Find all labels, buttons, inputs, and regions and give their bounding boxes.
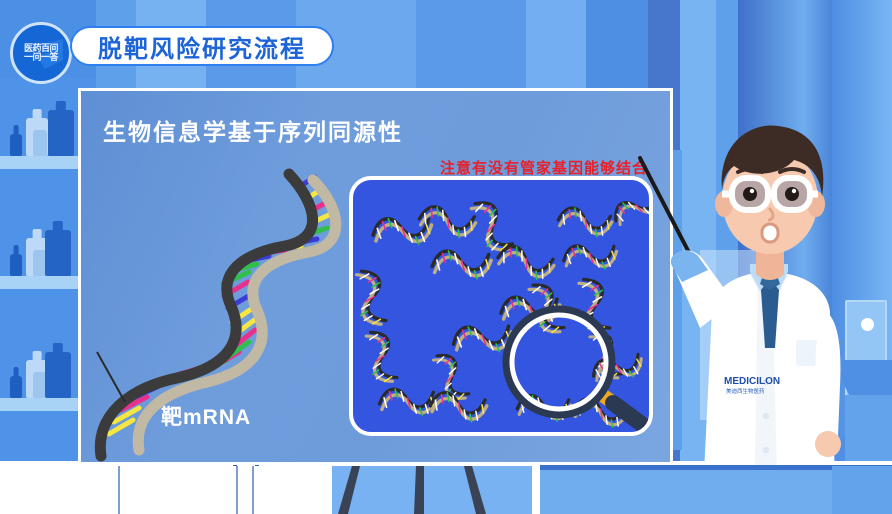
stool-legs [332, 466, 532, 514]
medicilon-circle-logo[interactable]: 医药百问 一问一答 [10, 22, 72, 84]
eye-right [785, 187, 799, 201]
logo-inner: 医药百问 一问一答 [13, 25, 69, 81]
hand-right [815, 431, 841, 457]
mouth [762, 224, 778, 242]
scientist-character: MEDICILON 美迪西生物医药 [638, 96, 892, 514]
counter-right-block [832, 466, 892, 514]
bottle-large [48, 110, 74, 156]
coat-button [763, 413, 769, 419]
rna-board [349, 176, 653, 436]
mrna-label: 靶mRNA [161, 401, 251, 431]
counter-seam [252, 466, 254, 514]
counter-seam [118, 466, 120, 514]
coat-button [763, 447, 769, 453]
bottle-small [10, 254, 22, 276]
panel-heading: 生物信息学基于序列同源性 [103, 113, 403, 147]
bottle-small [33, 130, 47, 156]
bottle-small [10, 134, 22, 156]
panel-note: 注意有没有管家基因能够结合 [440, 157, 648, 178]
page-title-pill: 脱靶风险研究流程 [70, 26, 334, 66]
counter-seam [236, 466, 238, 514]
bottle-small [10, 376, 22, 398]
scene-root: 医药百问 一问一答 脱靶风险研究流程 生物信息学基于序列同源性 注意有没有管家基… [0, 0, 892, 514]
bottle-large [45, 230, 71, 276]
eye-highlight [750, 189, 754, 193]
chest-badge-line1: MEDICILON [724, 376, 780, 387]
logo-line-2: 一问一答 [24, 53, 58, 62]
bottle-large [45, 352, 71, 398]
content-panel: 生物信息学基于序列同源性 注意有没有管家基因能够结合 [78, 88, 673, 465]
magnifier-icon[interactable] [497, 302, 653, 436]
pointer-stick [640, 158, 696, 266]
counter-seam [248, 466, 250, 514]
eye-left [743, 187, 757, 201]
eye-highlight [792, 189, 796, 193]
page-title: 脱靶风险研究流程 [98, 29, 306, 64]
chest-badge-line2: 美迪西生物医药 [726, 387, 765, 395]
